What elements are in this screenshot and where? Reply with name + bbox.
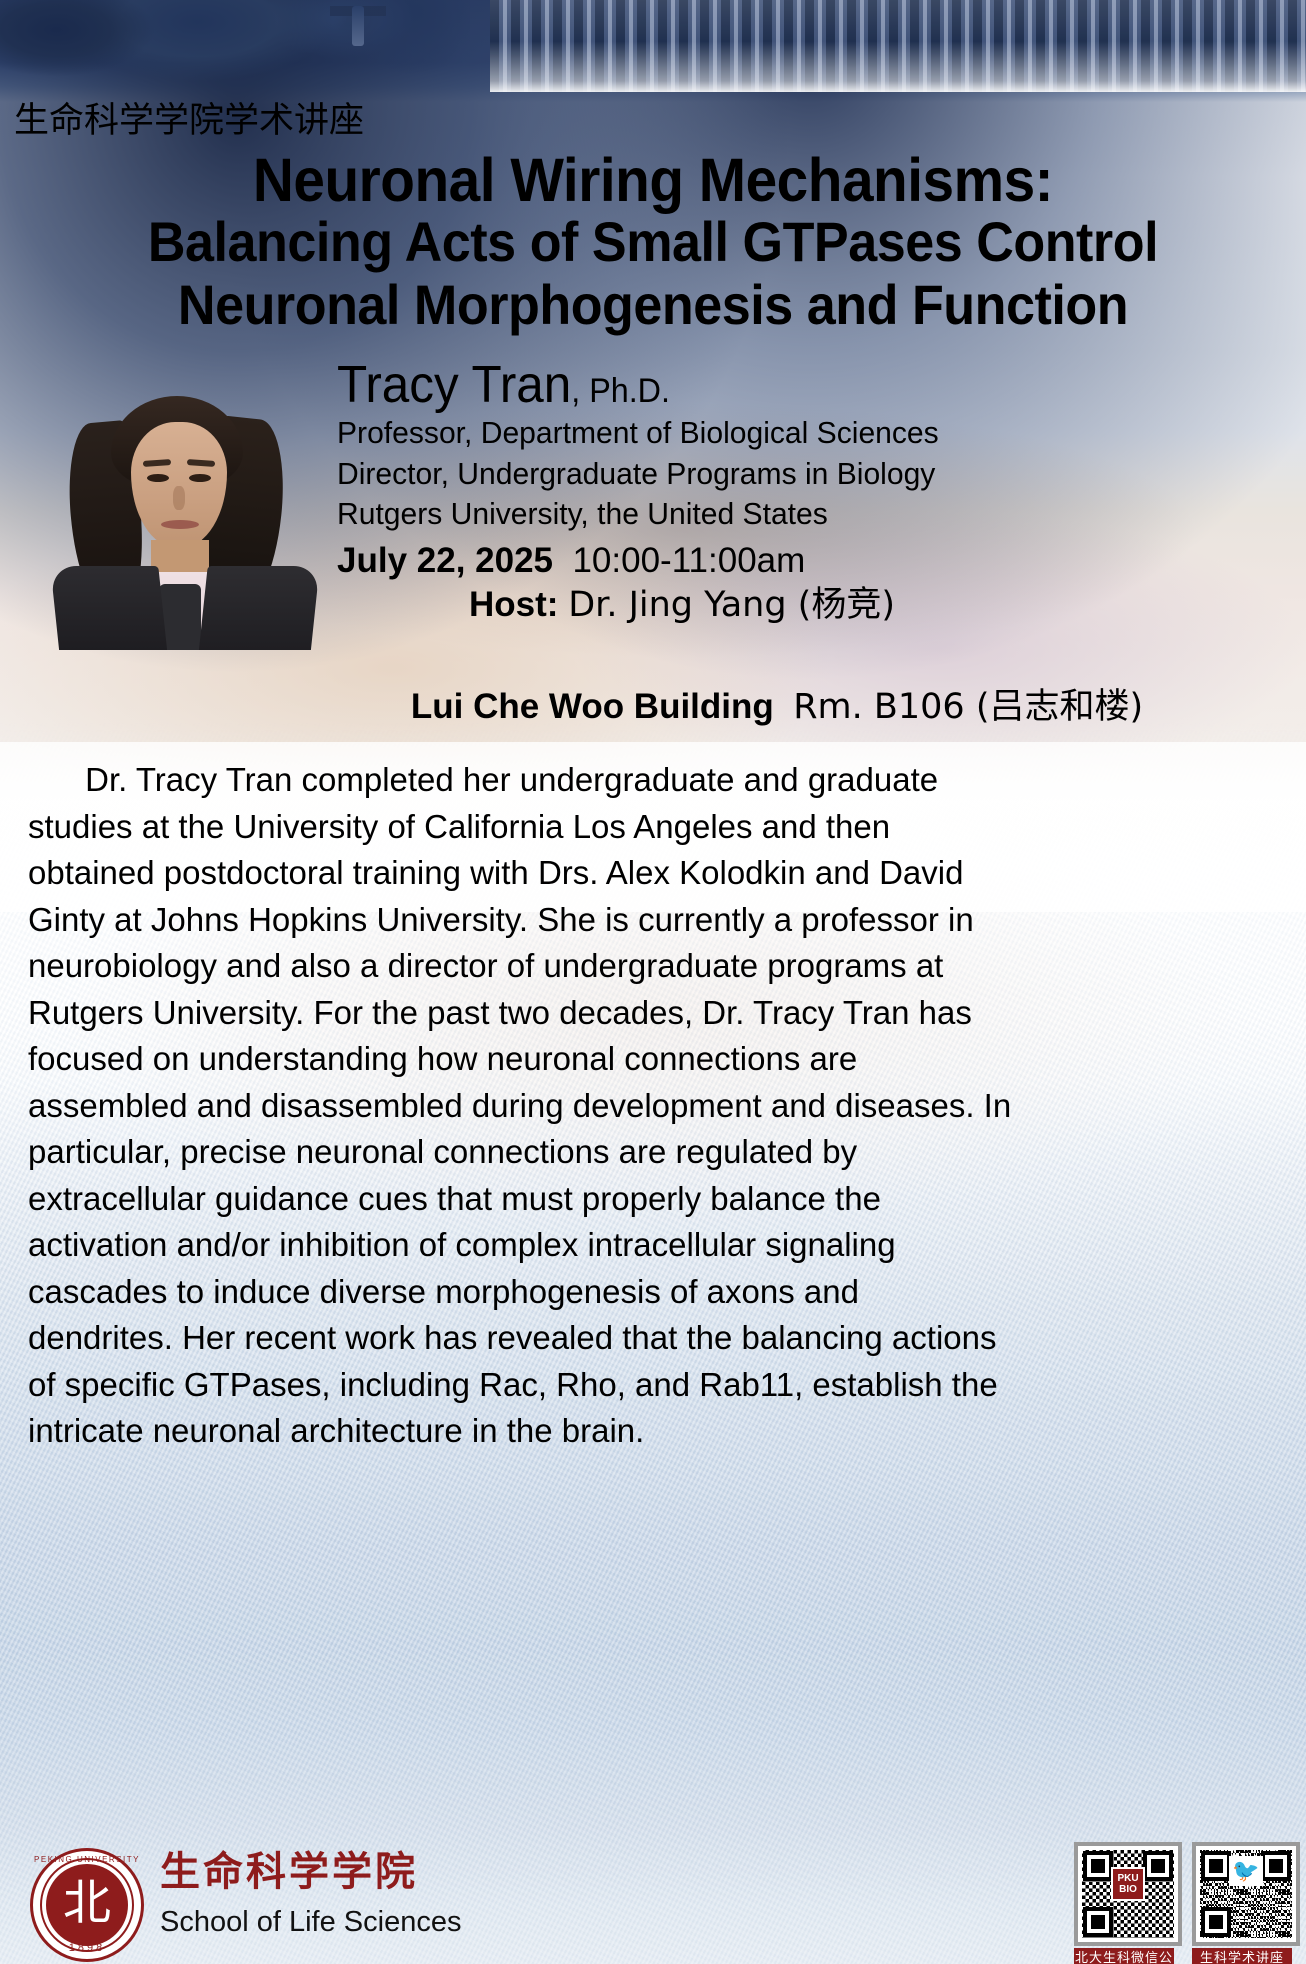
poster-footer: PEKING UNIVERSITY 北 1898 生命科学学院 School o…: [0, 1840, 1306, 1964]
event-time: 10:00-11:00am: [572, 541, 805, 580]
event-venue: Lui Che Woo Building Rm. B106 (吕志和楼): [197, 686, 1306, 728]
qr-finder-bottom-left: [1201, 1907, 1231, 1937]
qr-finder-top-right: [1143, 1851, 1173, 1881]
qr-code-image-wechat[interactable]: PKU BIO: [1074, 1842, 1182, 1946]
qr-code-group: PKU BIO 北大生科微信公众号 🐦 生科学术讲座: [1074, 1842, 1292, 1964]
event-host: Host: Dr. Jing Yang (杨竞): [337, 583, 1037, 627]
event-host-label: Host:: [469, 585, 558, 624]
qr-label-seminar: 生科学术讲座: [1192, 1948, 1292, 1964]
qr-card-wechat[interactable]: PKU BIO 北大生科微信公众号: [1074, 1842, 1174, 1964]
speaker-portrait: [35, 360, 320, 650]
event-date: July 22, 2025: [337, 541, 553, 580]
qr-label-wechat: 北大生科微信公众号: [1074, 1948, 1174, 1964]
qr-finder-bottom-left: [1083, 1907, 1113, 1937]
event-venue-building: Lui Che Woo Building: [411, 687, 774, 726]
seal-disc: 北: [46, 1864, 128, 1946]
seal-top-text: PEKING UNIVERSITY: [33, 1855, 141, 1864]
talk-title-line-2: Balancing Acts of Small GTPases Control: [46, 211, 1261, 274]
speaker-affiliation-3: Rutgers University, the United States: [337, 494, 1016, 535]
qr-center-logo: PKU BIO: [1111, 1867, 1145, 1901]
qr-finder-top-left: [1083, 1851, 1113, 1881]
qr-center-line-1: PKU: [1117, 1873, 1138, 1884]
portrait-mouth: [161, 520, 199, 529]
seminar-poster: 生命科学学院学术讲座 Neuronal Wiring Mechanisms: B…: [0, 0, 1306, 1964]
speaker-name-row: Tracy Tran, Ph.D.: [337, 358, 1002, 413]
speaker-degree: , Ph.D.: [571, 372, 670, 410]
seal-glyph: 北: [63, 1879, 111, 1927]
qr-center-line-2: BIO: [1119, 1884, 1137, 1895]
event-venue-room: Rm. B106 (吕志和楼): [793, 687, 1143, 727]
qr-finder-top-left: [1201, 1851, 1231, 1881]
school-name-en: School of Life Sciences: [160, 1908, 461, 1937]
portrait-jacket-right: [198, 566, 319, 650]
portrait-eye-left: [147, 474, 169, 482]
abstract-text: Dr. Tracy Tran completed her undergradua…: [28, 758, 1013, 1456]
qr-center-bird-icon: 🐦: [1229, 1856, 1263, 1886]
speaker-affiliation-1: Professor, Department of Biological Scie…: [337, 413, 1016, 454]
talk-title: Neuronal Wiring Mechanisms: Balancing Ac…: [46, 150, 1261, 336]
event-datetime: July 22, 2025 10:00-11:00am: [337, 539, 1037, 583]
qr-code-image-seminar[interactable]: 🐦: [1192, 1842, 1300, 1946]
qr-finder-top-right: [1261, 1851, 1291, 1881]
peking-university-seal-icon: PEKING UNIVERSITY 北 1898: [30, 1848, 144, 1962]
series-title-zh: 生命科学学院学术讲座: [14, 104, 364, 139]
portrait-eye-right: [189, 474, 211, 482]
event-host-name: Dr. Jing Yang (杨竞): [568, 585, 895, 625]
abstract-block: Dr. Tracy Tran completed her undergradua…: [28, 758, 1013, 1456]
portrait-nose: [173, 486, 185, 510]
seal-year: 1898: [33, 1942, 141, 1954]
speaker-affiliation-2: Director, Undergraduate Programs in Biol…: [337, 454, 1016, 495]
talk-title-line-3: Neuronal Morphogenesis and Function: [46, 274, 1261, 337]
qr-card-seminar[interactable]: 🐦 生科学术讲座: [1192, 1842, 1292, 1964]
school-name-zh: 生命科学学院: [160, 1852, 418, 1892]
speaker-info-block: Tracy Tran, Ph.D. Professor, Department …: [337, 358, 1037, 627]
speaker-name: Tracy Tran: [337, 356, 571, 414]
portrait-jacket-left: [50, 566, 167, 650]
talk-title-line-1: Neuronal Wiring Mechanisms:: [46, 150, 1261, 211]
